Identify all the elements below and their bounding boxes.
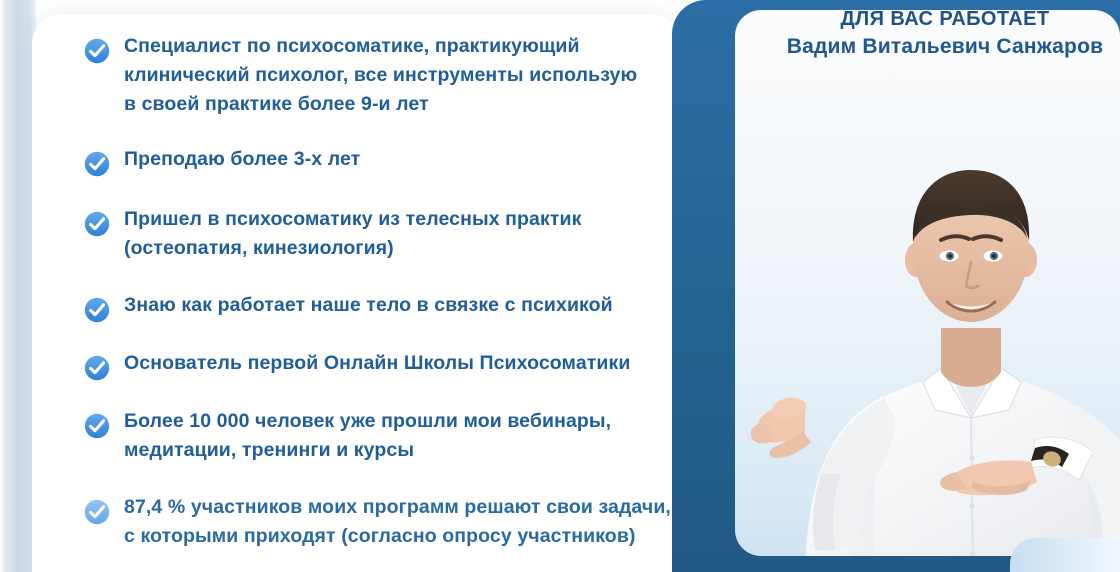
slide-root: Специалист по психосоматике, практикующи… <box>0 0 1120 572</box>
list-item: Специалист по психосоматике, практикующи… <box>84 32 684 119</box>
list-item: Основатель первой Онлайн Школы Психосома… <box>84 349 684 381</box>
check-circle-icon <box>84 355 110 381</box>
list-item: Пришел в психосоматику из телесных практ… <box>84 205 684 263</box>
list-item-label: Знаю как работает наше тело в связке с п… <box>124 291 684 320</box>
list-item-label: Более 10 000 человек уже прошли мои веби… <box>124 407 684 465</box>
presenter-panel: ДЛЯ ВАС РАБОТАЕТ Вадим Витальевич Санжар… <box>672 0 1120 572</box>
check-circle-icon <box>84 297 110 323</box>
presenter-headline: ДЛЯ ВАС РАБОТАЕТ Вадим Витальевич Санжар… <box>735 6 1120 62</box>
bottom-accent-shape <box>1010 538 1120 572</box>
check-circle-icon <box>84 499 110 525</box>
list-item: Преподаю более 3-х лет <box>84 145 684 177</box>
credentials-list: Специалист по психосоматике, практикующи… <box>84 32 684 551</box>
presenter-photo-card <box>735 10 1120 556</box>
list-item: Более 10 000 человек уже прошли мои веби… <box>84 407 684 465</box>
list-item-label: Пришел в психосоматику из телесных практ… <box>124 205 684 263</box>
check-circle-icon <box>84 38 110 64</box>
credentials-card: Специалист по психосоматике, практикующи… <box>32 14 682 572</box>
check-circle-icon <box>84 151 110 177</box>
list-item-label: 87,4 % участников моих программ решают с… <box>124 493 684 551</box>
headline-eyebrow: ДЛЯ ВАС РАБОТАЕТ <box>735 6 1120 32</box>
list-item-label: Основатель первой Онлайн Школы Психосома… <box>124 349 684 378</box>
left-edge-band <box>0 0 36 572</box>
presenter-name: Вадим Витальевич Санжаров <box>735 32 1120 62</box>
list-item-label: Преподаю более 3-х лет <box>124 145 684 174</box>
check-circle-icon <box>84 211 110 237</box>
check-circle-icon <box>84 413 110 439</box>
list-item: Знаю как работает наше тело в связке с п… <box>84 291 684 323</box>
list-item: 87,4 % участников моих программ решают с… <box>84 493 684 551</box>
list-item-label: Специалист по психосоматике, практикующи… <box>124 32 684 119</box>
